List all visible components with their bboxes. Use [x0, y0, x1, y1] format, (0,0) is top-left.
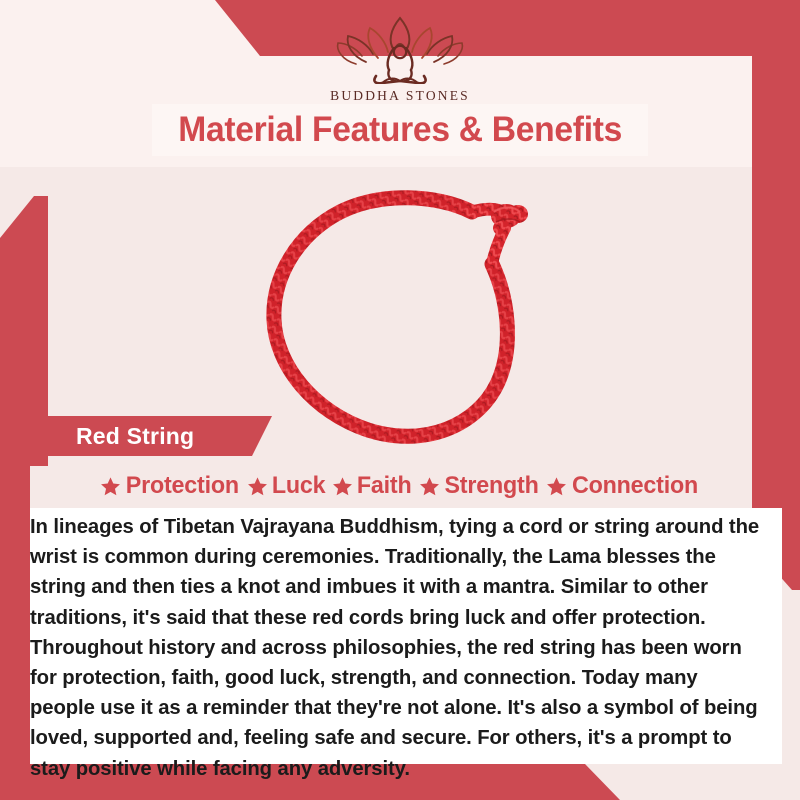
feature-label: Protection	[126, 472, 239, 500]
feature-item-faith: Faith	[332, 472, 412, 500]
feature-label: Luck	[272, 472, 326, 500]
feature-label: Faith	[357, 472, 412, 500]
feature-item-luck: Luck	[247, 472, 326, 500]
star-icon	[546, 476, 567, 497]
star-icon	[332, 476, 353, 497]
product-image	[240, 168, 580, 464]
description-text: In lineages of Tibetan Vajrayana Buddhis…	[30, 512, 760, 784]
description-panel: In lineages of Tibetan Vajrayana Buddhis…	[30, 508, 782, 764]
star-icon	[419, 476, 440, 497]
feature-item-protection: Protection	[100, 472, 241, 500]
decoration-text-left-red-strip	[0, 466, 30, 776]
feature-list: Protection Luck Faith Strength Connectio…	[30, 466, 770, 506]
star-icon	[100, 476, 121, 497]
feature-label: Strength	[444, 472, 538, 500]
page-title-text: Material Features & Benefits	[178, 110, 622, 150]
lotus-meditation-icon	[332, 12, 468, 84]
material-features-poster: BUDDHA STONES Material Features & Benefi…	[0, 0, 800, 800]
feature-item-connection: Connection	[546, 472, 700, 500]
material-name-ribbon: Red String	[22, 416, 272, 456]
brand-logo: BUDDHA STONES	[0, 12, 800, 104]
feature-item-strength: Strength	[419, 472, 540, 500]
feature-label: Connection	[572, 472, 698, 500]
brand-wordmark: BUDDHA STONES	[330, 88, 470, 104]
star-icon	[247, 476, 268, 497]
page-title: Material Features & Benefits	[152, 104, 648, 156]
material-name-label: Red String	[76, 423, 194, 450]
